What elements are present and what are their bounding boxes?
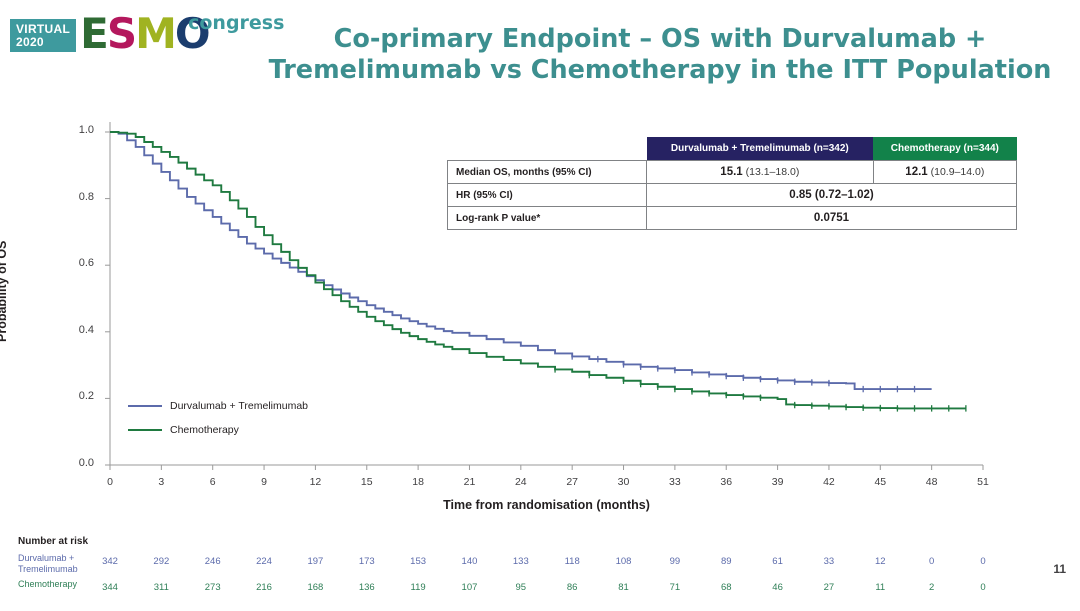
risk-value: 86 bbox=[557, 582, 587, 593]
risk-row-0: Durvalumab + Tremelimumab342292246224197… bbox=[18, 553, 1018, 579]
risk-value: 11 bbox=[865, 582, 895, 593]
page-number: 11 bbox=[1053, 562, 1066, 576]
legend-label: Durvalumab + Tremelimumab bbox=[170, 400, 308, 412]
x-tick-42: 42 bbox=[816, 476, 842, 488]
risk-value: 292 bbox=[146, 556, 176, 567]
risk-value: 118 bbox=[557, 556, 587, 567]
number-at-risk-title: Number at risk bbox=[18, 536, 1018, 547]
risk-value: 119 bbox=[403, 582, 433, 593]
x-tick-48: 48 bbox=[919, 476, 945, 488]
esmo-logo: VIRTUAL 2020 E S M O congress bbox=[10, 6, 209, 52]
y-axis-label: Probability of OS bbox=[0, 241, 9, 342]
x-tick-15: 15 bbox=[354, 476, 380, 488]
risk-value: 140 bbox=[454, 556, 484, 567]
x-tick-18: 18 bbox=[405, 476, 431, 488]
y-tick-0.0: 0.0 bbox=[64, 457, 94, 469]
risk-value: 344 bbox=[95, 582, 125, 593]
risk-value: 273 bbox=[198, 582, 228, 593]
esmo-letter-s: S bbox=[107, 16, 135, 52]
risk-value: 153 bbox=[403, 556, 433, 567]
risk-value: 61 bbox=[763, 556, 793, 567]
x-axis-label: Time from randomisation (months) bbox=[110, 498, 983, 512]
risk-value: 27 bbox=[814, 582, 844, 593]
risk-value: 311 bbox=[146, 582, 176, 593]
risk-value: 197 bbox=[300, 556, 330, 567]
legend-item-1: Chemotherapy bbox=[128, 424, 308, 436]
survival-curve-0 bbox=[110, 132, 932, 389]
esmo-letter-e: E bbox=[80, 16, 107, 52]
risk-value: 81 bbox=[609, 582, 639, 593]
risk-value: 95 bbox=[506, 582, 536, 593]
risk-value: 0 bbox=[968, 556, 998, 567]
risk-value: 89 bbox=[711, 556, 741, 567]
risk-value: 246 bbox=[198, 556, 228, 567]
risk-value: 68 bbox=[711, 582, 741, 593]
risk-value: 173 bbox=[352, 556, 382, 567]
risk-value: 33 bbox=[814, 556, 844, 567]
risk-value: 12 bbox=[865, 556, 895, 567]
virtual-2020-badge: VIRTUAL 2020 bbox=[10, 19, 76, 52]
kaplan-meier-chart: Probability of OS Time from randomisatio… bbox=[0, 110, 1010, 510]
risk-value: 107 bbox=[454, 582, 484, 593]
esmo-wordmark: E S M O congress bbox=[80, 16, 208, 52]
risk-value: 168 bbox=[300, 582, 330, 593]
legend-label: Chemotherapy bbox=[170, 424, 239, 436]
x-tick-45: 45 bbox=[867, 476, 893, 488]
legend-item-0: Durvalumab + Tremelimumab bbox=[128, 400, 308, 412]
risk-value: 342 bbox=[95, 556, 125, 567]
risk-value: 136 bbox=[352, 582, 382, 593]
risk-value: 133 bbox=[506, 556, 536, 567]
x-tick-21: 21 bbox=[456, 476, 482, 488]
x-tick-27: 27 bbox=[559, 476, 585, 488]
risk-value: 99 bbox=[660, 556, 690, 567]
risk-value: 0 bbox=[968, 582, 998, 593]
x-tick-3: 3 bbox=[148, 476, 174, 488]
risk-row-1: Chemotherapy3443112732161681361191079586… bbox=[18, 579, 1018, 605]
risk-value: 216 bbox=[249, 582, 279, 593]
legend-swatch bbox=[128, 405, 162, 408]
survival-curve-1 bbox=[110, 132, 966, 408]
y-tick-0.4: 0.4 bbox=[64, 324, 94, 336]
esmo-letter-m: M bbox=[135, 16, 175, 52]
slide-title: Co-primary Endpoint – OS with Durvalumab… bbox=[250, 24, 1070, 86]
virtual-year: 2020 bbox=[16, 36, 70, 49]
x-tick-36: 36 bbox=[713, 476, 739, 488]
y-tick-1.0: 1.0 bbox=[64, 124, 94, 136]
x-tick-30: 30 bbox=[611, 476, 637, 488]
y-tick-0.8: 0.8 bbox=[64, 191, 94, 203]
risk-value: 46 bbox=[763, 582, 793, 593]
number-at-risk-table: Number at risk Durvalumab + Tremelimumab… bbox=[18, 536, 1018, 605]
x-tick-12: 12 bbox=[302, 476, 328, 488]
x-tick-33: 33 bbox=[662, 476, 688, 488]
survival-curves-svg bbox=[0, 110, 1010, 510]
x-tick-0: 0 bbox=[97, 476, 123, 488]
risk-value: 71 bbox=[660, 582, 690, 593]
x-tick-6: 6 bbox=[200, 476, 226, 488]
risk-value: 224 bbox=[249, 556, 279, 567]
legend-swatch bbox=[128, 429, 162, 432]
number-at-risk-rows: Durvalumab + Tremelimumab342292246224197… bbox=[18, 553, 1018, 605]
risk-value: 108 bbox=[609, 556, 639, 567]
y-tick-0.6: 0.6 bbox=[64, 257, 94, 269]
chart-legend: Durvalumab + TremelimumabChemotherapy bbox=[128, 400, 308, 448]
risk-value: 2 bbox=[917, 582, 947, 593]
x-tick-9: 9 bbox=[251, 476, 277, 488]
x-tick-24: 24 bbox=[508, 476, 534, 488]
x-tick-51: 51 bbox=[970, 476, 996, 488]
x-tick-39: 39 bbox=[765, 476, 791, 488]
y-tick-0.2: 0.2 bbox=[64, 390, 94, 402]
risk-value: 0 bbox=[917, 556, 947, 567]
